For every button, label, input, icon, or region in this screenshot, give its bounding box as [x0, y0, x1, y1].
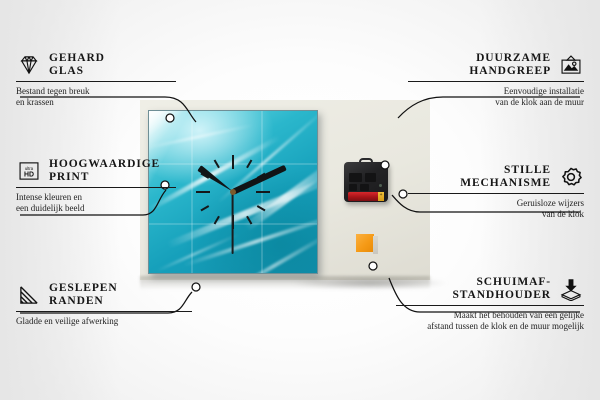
feature-schuimafstandhouder: SCHUIMAF- STANDHOUDER Maakt het behouden… [396, 276, 584, 332]
svg-text:ultra: ultra [25, 166, 34, 171]
bevelled-edges-icon [16, 283, 42, 307]
feature-duurzame-handgreep: DUURZAME HANDGREEP Eenvoudige installati… [396, 52, 584, 108]
feature-description: Eenvoudige installatie van de klok aan d… [396, 86, 584, 108]
feature-geslepen-randen: GESLEPEN RANDEN Gladde en veilige afwerk… [16, 282, 204, 327]
feature-title: GESLEPEN RANDEN [49, 282, 118, 308]
feature-hoogwaardige-print: ultra HD HOOGWAARDIGE PRINT Intense kleu… [16, 158, 204, 214]
feature-description: Intense kleuren en een duidelijk beeld [16, 192, 204, 214]
press-pad-icon [558, 277, 584, 301]
mechanism-slot [349, 173, 362, 182]
picture-frame-icon [558, 53, 584, 77]
feature-header: GEHARD GLAS [16, 52, 204, 78]
gear-icon [558, 165, 584, 189]
feature-description: Geruisloze wijzers van de klok [396, 198, 584, 220]
feature-title: GEHARD GLAS [49, 52, 105, 78]
diamond-icon [16, 53, 42, 77]
feature-title: STILLE MECHANISME [460, 164, 551, 190]
feature-divider [16, 81, 176, 82]
feature-gehard-glas: GEHARD GLAS Bestand tegen breuk en krass… [16, 52, 204, 108]
clock-mechanism: + [344, 158, 388, 202]
feature-divider [408, 81, 584, 82]
clock-center-cap [230, 189, 236, 195]
feature-title: DUURZAME HANDGREEP [469, 52, 551, 78]
feature-divider [16, 187, 176, 188]
feature-description: Gladde en veilige afwerking [16, 316, 204, 327]
feature-divider [16, 311, 192, 312]
feature-stille-mechanisme: STILLE MECHANISME Geruisloze wijzers van… [396, 164, 584, 220]
feature-description: Bestand tegen breuk en krassen [16, 86, 204, 108]
foam-spacer-side [373, 236, 378, 254]
mechanism-slot [349, 184, 357, 191]
ultra-hd-icon: ultra HD [16, 159, 42, 183]
feature-header: DUURZAME HANDGREEP [396, 52, 584, 78]
svg-text:HD: HD [24, 172, 34, 179]
clock-second-hand [232, 192, 234, 254]
product-infographic: + [0, 0, 600, 400]
foam-spacer-top [356, 234, 374, 252]
feature-divider [396, 305, 584, 306]
feature-header: ultra HD HOOGWAARDIGE PRINT [16, 158, 204, 184]
feature-header: GESLEPEN RANDEN [16, 282, 204, 308]
feature-divider [408, 193, 584, 194]
feature-title: SCHUIMAF- STANDHOUDER [452, 276, 551, 302]
feature-header: STILLE MECHANISME [396, 164, 584, 190]
feature-description: Maakt het behouden van een gelijke afsta… [396, 310, 584, 332]
feature-title: HOOGWAARDIGE PRINT [49, 158, 160, 184]
battery-plus-sign: + [379, 194, 383, 198]
feather-streak [148, 124, 254, 150]
feature-header: SCHUIMAF- STANDHOUDER [396, 276, 584, 302]
mechanism-slot [365, 173, 376, 182]
mechanism-body: + [344, 162, 388, 202]
mechanism-indicator [379, 184, 382, 187]
battery: + [348, 192, 384, 201]
foam-spacer [356, 234, 378, 254]
mechanism-slot [360, 184, 369, 191]
